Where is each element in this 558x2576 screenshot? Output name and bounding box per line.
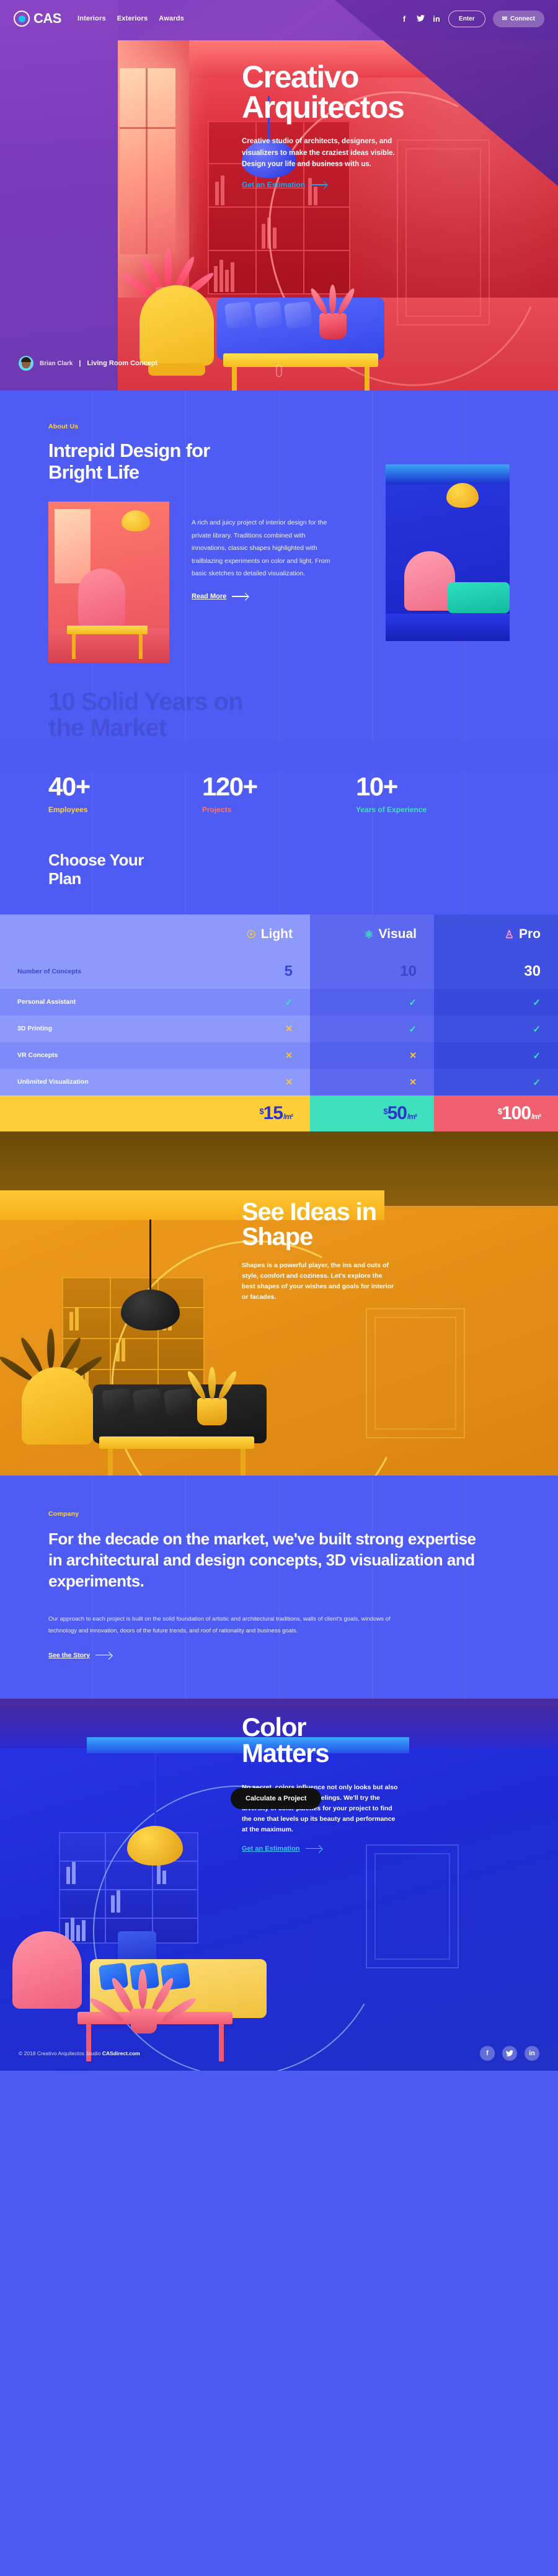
years-section: 10 Solid Years on the Market xyxy=(0,663,558,741)
nav-item-interiors[interactable]: Interiors xyxy=(77,15,106,22)
cross-icon: ✕ xyxy=(409,1050,417,1061)
arrow-right-icon xyxy=(95,1655,112,1656)
globe-icon: ♙ xyxy=(505,929,514,940)
linkedin-icon[interactable]: in xyxy=(432,15,441,23)
caption-project: Living Room Concept xyxy=(87,360,157,367)
brand-logo[interactable]: CAS xyxy=(14,11,61,27)
stats-row: 40+ Employees 120+ Projects 10+ Years of… xyxy=(0,772,558,845)
pricing-row-unlimited: Unlimited Visualization ✕ ✕ ✓ xyxy=(0,1069,558,1095)
hero-title-line2: Arquitectos xyxy=(242,90,404,125)
arrow-right-icon xyxy=(232,596,248,597)
color-cta-link[interactable]: Get an Estimation xyxy=(242,1845,533,1852)
years-title: 10 Solid Years on the Market xyxy=(48,689,247,741)
see-the-story-label: See the Story xyxy=(48,1652,90,1659)
color-title: Color Matters xyxy=(242,1714,533,1766)
shape-sofa xyxy=(93,1384,267,1443)
site-footer: © 2018 Creativo Arquitectos Studio CASdi… xyxy=(0,2036,558,2071)
enter-button[interactable]: Enter xyxy=(448,11,485,27)
shape-title: See Ideas in Shape xyxy=(242,1200,533,1249)
pricing-row-concepts: Number of Concepts 5 10 30 xyxy=(0,954,558,989)
about-title: Intrepid Design for Bright Life xyxy=(48,440,253,483)
price-light[interactable]: $ 15 /m² xyxy=(186,1095,310,1131)
caption-author: Brian Clark xyxy=(40,360,73,367)
company-section: Company For the decade on the market, we… xyxy=(0,1476,558,1698)
row-value: 30 xyxy=(524,963,541,980)
mail-icon: ✉ xyxy=(502,15,507,22)
row-value: 5 xyxy=(285,963,293,980)
pricing-row-vr: VR Concepts ✕ ✕ ✓ xyxy=(0,1042,558,1069)
see-the-story-link[interactable]: See the Story xyxy=(48,1652,510,1659)
header-actions: f in Enter ✉ Connect xyxy=(400,11,544,27)
caption-divider: | xyxy=(79,360,81,367)
row-label: VR Concepts xyxy=(0,1042,186,1069)
color-cta-label: Get an Estimation xyxy=(242,1845,300,1852)
arrow-right-icon xyxy=(311,184,327,185)
price-unit: /m² xyxy=(531,1112,541,1121)
facebook-icon[interactable]: f xyxy=(480,2046,495,2061)
row-label: Number of Concepts xyxy=(0,954,186,989)
read-more-link[interactable]: Read More xyxy=(192,593,337,600)
cross-icon: ✕ xyxy=(409,1077,417,1087)
plan-column-pro[interactable]: ♙ Pro xyxy=(434,914,558,954)
check-icon: ✓ xyxy=(533,1024,541,1035)
site-header: CAS Interiors Exteriors Awards f in Ente… xyxy=(0,0,558,37)
plan-column-visual[interactable]: ⚛ Visual xyxy=(310,914,434,954)
plans-heading-block: Choose Your Plan xyxy=(0,845,558,914)
hero-copy: Creativo Arquitectos Creative studio of … xyxy=(242,62,533,189)
check-icon: ✓ xyxy=(409,1024,417,1035)
price-value: 100 xyxy=(502,1103,531,1124)
stat-value: 120+ xyxy=(202,772,356,802)
footer-copyright: © 2018 Creativo Arquitectos Studio CASdi… xyxy=(19,2050,140,2056)
color-title-line1: Color xyxy=(242,1712,306,1742)
color-section: Color Matters No secret, colors influenc… xyxy=(0,1699,558,2071)
avatar xyxy=(19,356,33,371)
shape-section: See Ideas in Shape Shapes is a powerful … xyxy=(0,1131,558,1476)
plan-name-label: Light xyxy=(261,927,293,942)
check-icon: ✓ xyxy=(533,1077,541,1088)
price-pro[interactable]: $ 100 /m² xyxy=(434,1095,558,1131)
pricing-row-3dprinting: 3D Printing ✕ ✓ ✓ xyxy=(0,1016,558,1042)
stat-label: Projects xyxy=(202,805,356,814)
price-visual[interactable]: $ 50 /m² xyxy=(310,1095,434,1131)
cross-icon: ✕ xyxy=(285,1077,293,1087)
stat-employees: 40+ Employees xyxy=(48,772,202,814)
pricing-header-row: ☉ Light ⚛ Visual ♙ Pro xyxy=(0,914,558,954)
stat-projects: 120+ Projects xyxy=(202,772,356,814)
check-icon: ✓ xyxy=(409,997,417,1008)
footer-social: f in xyxy=(480,2046,539,2061)
shape-title-line2: Shape xyxy=(242,1223,312,1250)
connect-button[interactable]: ✉ Connect xyxy=(493,11,544,27)
scroll-indicator-icon xyxy=(277,365,282,377)
main-nav: Interiors Exteriors Awards xyxy=(77,15,184,22)
molecule-icon: ☉ xyxy=(246,929,255,940)
hero-cta-label: Get an Estimation xyxy=(242,180,305,189)
atom-icon: ⚛ xyxy=(364,929,373,940)
stat-label: Employees xyxy=(48,805,202,814)
row-label: Personal Assistant xyxy=(0,989,186,1016)
stat-value: 40+ xyxy=(48,772,202,802)
stat-value: 10+ xyxy=(356,772,510,802)
linkedin-icon[interactable]: in xyxy=(525,2046,539,2061)
about-section: About Us Intrepid Design for Bright Life… xyxy=(0,391,558,663)
about-image xyxy=(48,502,169,663)
hero-section: Creativo Arquitectos Creative studio of … xyxy=(0,0,558,391)
about-body: A rich and juicy project of interior des… xyxy=(192,516,337,580)
twitter-icon[interactable] xyxy=(416,15,425,23)
page-title: Creativo Arquitectos xyxy=(242,62,533,122)
circle-dot-icon xyxy=(14,11,30,27)
shape-body: Shapes is a powerful player, the ins and… xyxy=(242,1260,397,1303)
color-title-line2: Matters xyxy=(242,1738,329,1768)
brand-name: CAS xyxy=(33,11,61,27)
landing-page: CAS Interiors Exteriors Awards f in Ente… xyxy=(0,0,558,2071)
plans-heading: Choose Your Plan xyxy=(48,851,160,888)
price-value: 15 xyxy=(263,1103,283,1124)
calculate-project-button[interactable]: Calculate a Project xyxy=(231,1788,321,1809)
company-eyebrow: Company xyxy=(48,1510,510,1518)
hero-cta-link[interactable]: Get an Estimation xyxy=(242,180,533,189)
hero-subtitle: Creative studio of architects, designers… xyxy=(242,136,403,170)
twitter-icon[interactable] xyxy=(502,2046,517,2061)
pricing-row-assistant: Personal Assistant ✓ ✓ ✓ xyxy=(0,989,558,1016)
hero-left-panel xyxy=(0,0,118,391)
pricing-footer-spacer xyxy=(0,1095,186,1131)
company-title: For the decade on the market, we've buil… xyxy=(48,1529,476,1591)
about-image-secondary xyxy=(386,464,510,641)
stat-years-experience: 10+ Years of Experience xyxy=(356,772,510,814)
row-value: 10 xyxy=(400,963,417,980)
company-body: Our approach to each project is built on… xyxy=(48,1613,396,1637)
plan-name-label: Visual xyxy=(379,927,417,942)
stat-label: Years of Experience xyxy=(356,805,510,814)
check-icon: ✓ xyxy=(533,1050,541,1061)
hero-caption: Brian Clark | Living Room Concept xyxy=(19,356,157,371)
pricing-header-spacer xyxy=(0,914,186,954)
color-plant xyxy=(102,1947,183,2027)
credit-text: CASdirect.com xyxy=(102,2050,140,2056)
row-label: 3D Printing xyxy=(0,1016,186,1042)
arrow-right-icon xyxy=(306,1848,322,1849)
connect-label: Connect xyxy=(510,15,535,22)
price-unit: /m² xyxy=(407,1112,417,1121)
nav-item-awards[interactable]: Awards xyxy=(159,15,184,22)
check-icon: ✓ xyxy=(285,997,293,1008)
copyright-text: © 2018 Creativo Arquitectos Studio xyxy=(19,2050,100,2056)
pricing-footer-row: $ 15 /m² $ 50 /m² $ 100 /m² xyxy=(0,1095,558,1131)
price-value: 50 xyxy=(387,1103,407,1124)
plan-name-label: Pro xyxy=(519,927,541,942)
check-icon: ✓ xyxy=(533,997,541,1008)
cross-icon: ✕ xyxy=(285,1024,293,1034)
price-unit: /m² xyxy=(283,1112,293,1121)
plan-column-light[interactable]: ☉ Light xyxy=(186,914,310,954)
row-label: Unlimited Visualization xyxy=(0,1069,186,1095)
cross-icon: ✕ xyxy=(285,1050,293,1061)
facebook-icon[interactable]: f xyxy=(400,15,409,23)
nav-item-exteriors[interactable]: Exteriors xyxy=(117,15,148,22)
about-eyebrow: About Us xyxy=(48,423,510,430)
shape-title-line1: See Ideas in xyxy=(242,1198,376,1226)
shape-copy: See Ideas in Shape Shapes is a powerful … xyxy=(242,1200,533,1303)
read-more-label: Read More xyxy=(192,593,226,600)
color-copy: Color Matters No secret, colors influenc… xyxy=(242,1714,533,1852)
pricing-table: ☉ Light ⚛ Visual ♙ Pro Number of Concept… xyxy=(0,914,558,1131)
